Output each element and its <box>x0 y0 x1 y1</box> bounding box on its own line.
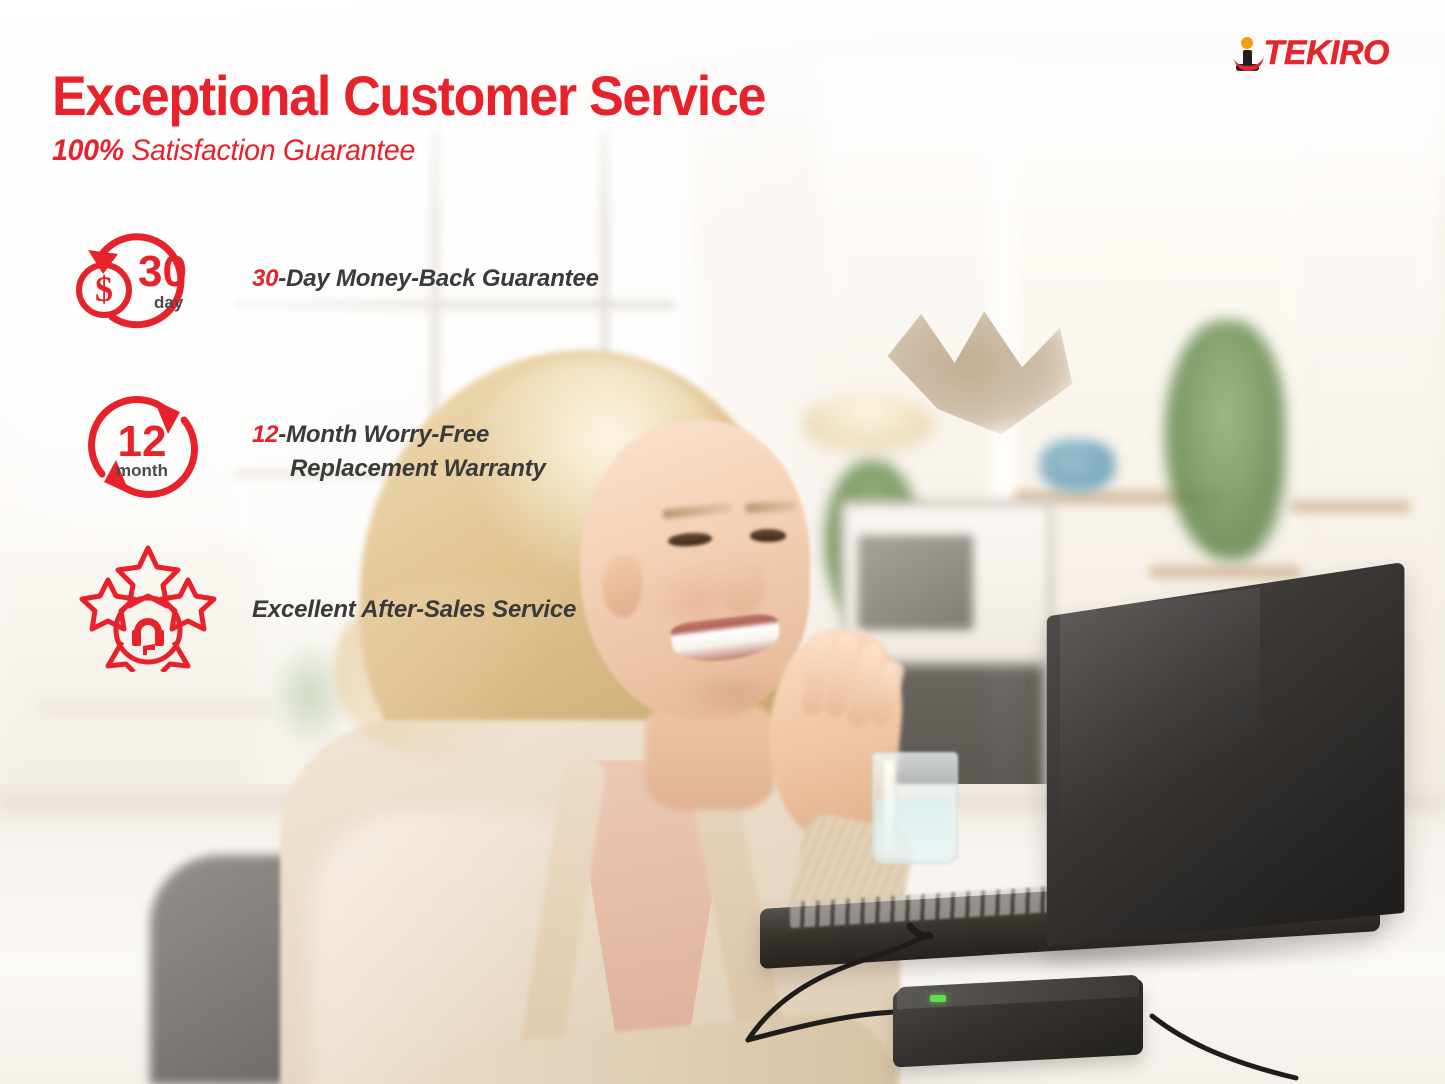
after-sales-service-medal-icon <box>78 542 218 672</box>
dollar-symbol: $ <box>95 269 113 309</box>
feature-line-1: 12-Month Worry-Free <box>252 418 546 452</box>
page-title: Exceptional Customer Service <box>52 63 765 128</box>
feature-label-12-month: 12-Month Worry-Free Replacement Warranty <box>252 418 546 486</box>
tekiro-logo-mark-icon <box>1234 37 1260 71</box>
promo-banner: TEKIRO Exceptional Customer Service 100%… <box>0 0 1445 1084</box>
feature-rest: Excellent After-Sales Service <box>252 596 576 623</box>
tekiro-logo: TEKIRO <box>1234 34 1389 73</box>
logo-wordmark: TEKIRO <box>1264 34 1389 73</box>
subtitle-percent: 100% <box>52 134 124 167</box>
icon-label-month: month <box>116 461 168 480</box>
feature-label-30-day: 30-Day Money-Back Guarantee <box>252 262 599 296</box>
banner-content: TEKIRO Exceptional Customer Service 100%… <box>0 0 1445 1084</box>
30-day-money-back-icon: $ 30 day <box>72 228 212 340</box>
feature-icon-30-day: $ 30 day <box>72 228 212 340</box>
logo-dot-icon <box>1241 37 1253 49</box>
feature-icon-after-sales <box>78 542 218 672</box>
12-month-warranty-icon: 12 month <box>80 388 206 506</box>
icon-label-day: day <box>154 293 184 312</box>
feature-line-2: Replacement Warranty <box>252 452 546 486</box>
icon-number-30: 30 <box>138 247 187 296</box>
feature-number: 12 <box>252 421 278 448</box>
feature-number: 30 <box>252 265 278 292</box>
subtitle-rest: Satisfaction Guarantee <box>124 134 415 167</box>
headset-icon <box>132 618 164 655</box>
feature-rest: -Day Money-Back Guarantee <box>278 265 598 292</box>
feature-icon-12-month: 12 month <box>80 388 206 506</box>
icon-number-12: 12 <box>118 417 167 466</box>
feature-label-after-sales: Excellent After-Sales Service <box>252 593 576 627</box>
feature-rest: -Month Worry-Free <box>278 421 489 448</box>
page-subtitle: 100% Satisfaction Guarantee <box>52 134 415 168</box>
